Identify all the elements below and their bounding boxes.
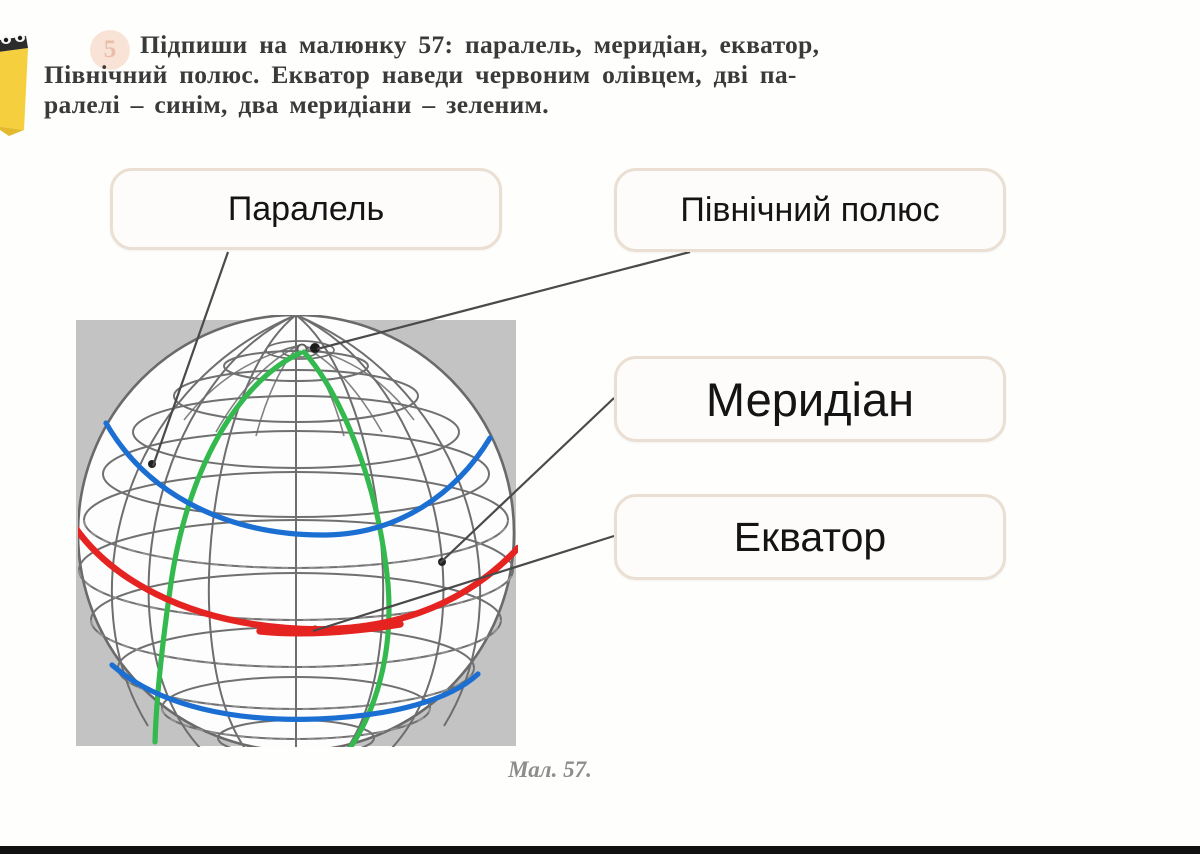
callout-parallel-label: Паралель (228, 190, 384, 229)
globe-figure (0, 0, 1200, 854)
parallel-blue-lines (106, 423, 490, 719)
leader-line-equator (313, 536, 614, 631)
equator-red-line (72, 523, 518, 633)
task-text-line-3: ралелі – синім, два меридіани – зеленим. (44, 90, 1149, 120)
task-text-line-1: Підпиши на малюнку 57: паралель, меридіа… (44, 30, 1149, 60)
leader-line-north-pole (317, 252, 690, 349)
callout-meridian[interactable]: Меридіан (614, 356, 1006, 442)
callout-equator[interactable]: Екватор (614, 494, 1006, 580)
task-text-line-2: Північний полюс. Екватор наведи червоним… (44, 60, 1149, 90)
callout-parallel[interactable]: Паралель (110, 168, 502, 250)
callout-north-pole[interactable]: Північний полюс (614, 168, 1006, 252)
callout-equator-label: Екватор (734, 514, 886, 561)
figure-caption: Мал. 57. (440, 757, 660, 783)
figure-background-swatch (76, 320, 516, 746)
pencil-mascot-icon (0, 18, 44, 136)
meridian-green-lines (155, 352, 389, 748)
bottom-bar (0, 846, 1200, 854)
leader-lines (153, 252, 690, 631)
north-pole-marker (298, 345, 307, 354)
north-pole-dot (310, 343, 320, 353)
leader-line-meridian (440, 398, 614, 563)
leader-line-parallel (153, 252, 228, 466)
worksheet-page: 5 Підпиши на малюнку 57: паралель, мерид… (0, 0, 1200, 854)
callout-meridian-label: Меридіан (706, 372, 914, 427)
task-instruction-text: Підпиши на малюнку 57: паралель, меридіа… (44, 30, 1149, 120)
callout-north-pole-label: Північний полюс (680, 191, 939, 230)
